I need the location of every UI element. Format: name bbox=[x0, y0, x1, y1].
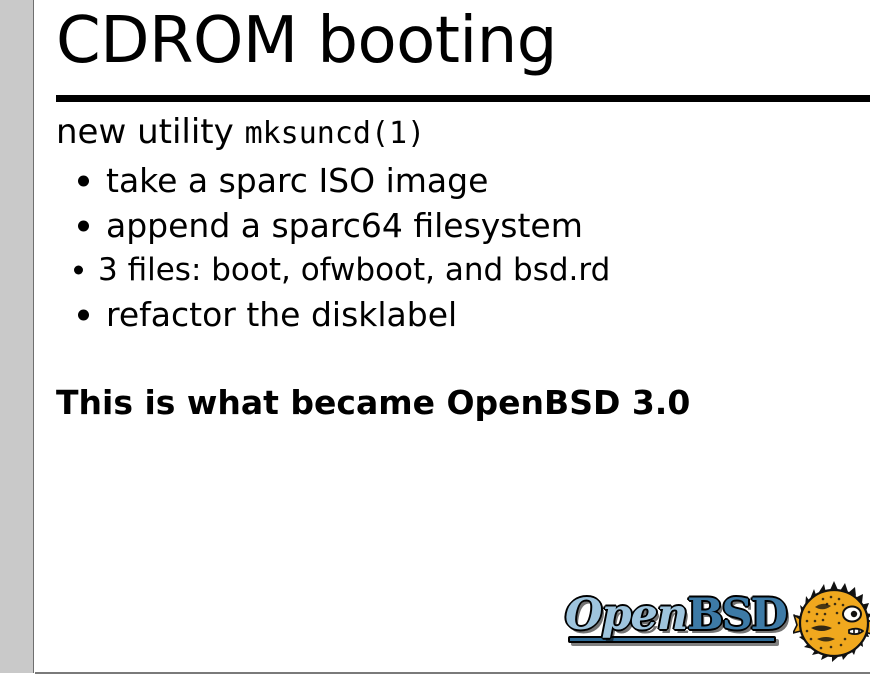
lead-line-prefix: new utility bbox=[56, 112, 245, 152]
openbsd-logo: OpenBSD bbox=[565, 577, 865, 672]
list-item-label: take a sparc ISO image bbox=[106, 161, 488, 200]
slide-canvas: CDROM booting new utility mksuncd(1) tak… bbox=[35, 0, 870, 674]
lead-line-manpage: mksuncd(1) bbox=[245, 116, 426, 151]
conclusion-text: This is what became OpenBSD 3.0 bbox=[56, 383, 866, 423]
slide-screen: CDROM booting new utility mksuncd(1) tak… bbox=[0, 0, 870, 681]
logo-word-bsd: BSD bbox=[687, 590, 786, 640]
logo-word-open: Open bbox=[565, 590, 687, 640]
list-item-label: append a sparc64 filesystem bbox=[106, 206, 583, 245]
left-gutter-strip bbox=[0, 0, 34, 673]
puffy-blowfish-icon bbox=[793, 579, 870, 671]
list-item-label: 3 files: boot, ofwboot, and bsd.rd bbox=[98, 252, 610, 288]
page-title: CDROM booting bbox=[56, 8, 557, 75]
list-item-label: refactor the disklabel bbox=[106, 295, 457, 334]
lead-line: new utility mksuncd(1) bbox=[56, 110, 866, 156]
list-item: append a sparc64 filesystem bbox=[56, 203, 866, 248]
nested-list-wrapper: 3 files: boot, ofwboot, and bsd.rd bbox=[56, 248, 866, 292]
title-underline-rule bbox=[56, 95, 870, 102]
bullet-list-level-1: take a sparc ISO image append a sparc64 … bbox=[56, 158, 866, 337]
bullet-dot-icon bbox=[78, 220, 89, 231]
logo-wordmark: OpenBSD bbox=[565, 591, 786, 639]
list-item: 3 files: boot, ofwboot, and bsd.rd bbox=[56, 248, 866, 292]
list-item: take a sparc ISO image bbox=[56, 158, 866, 203]
slide-body: new utility mksuncd(1) take a sparc ISO … bbox=[56, 110, 866, 423]
bullet-dot-icon bbox=[78, 309, 89, 320]
bullet-dot-icon bbox=[78, 175, 89, 186]
bullet-list-level-2: 3 files: boot, ofwboot, and bsd.rd bbox=[56, 248, 866, 292]
list-item: refactor the disklabel bbox=[56, 292, 866, 337]
bullet-dot-icon bbox=[74, 266, 83, 275]
